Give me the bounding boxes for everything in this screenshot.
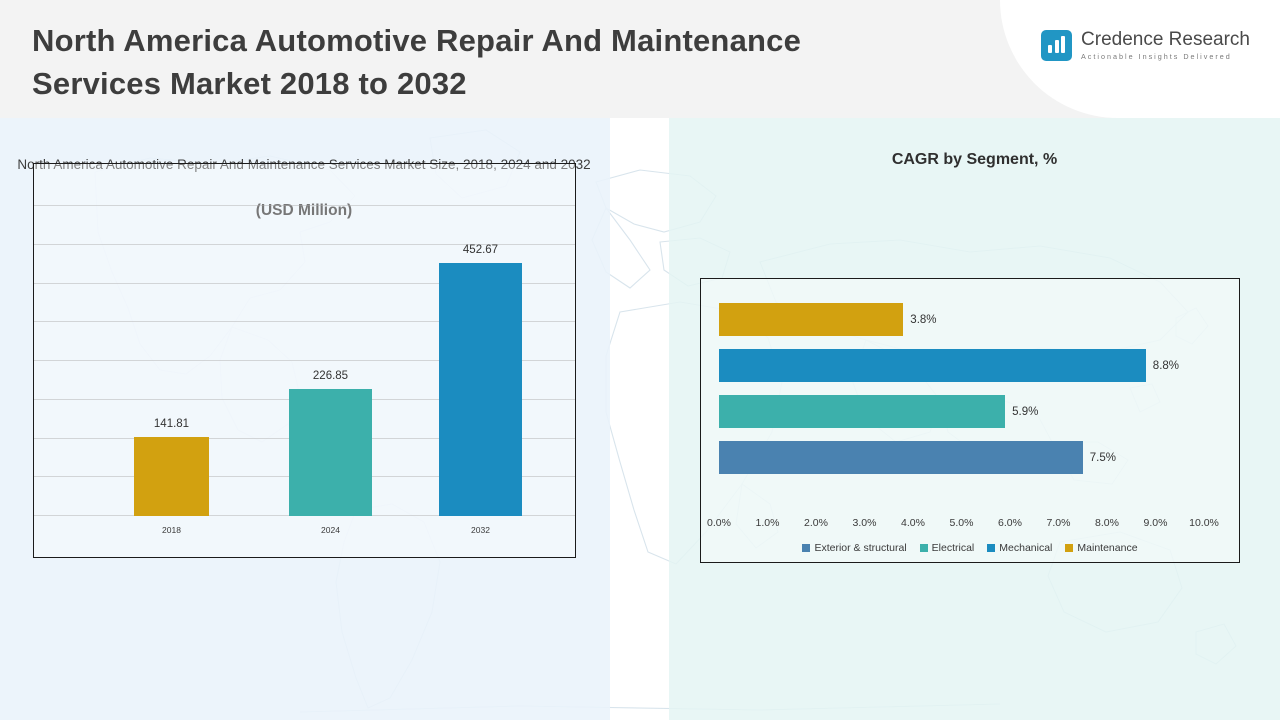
x-tick-label: 5.0% bbox=[950, 517, 974, 529]
brand-logo[interactable]: Credence Research Actionable Insights De… bbox=[1041, 30, 1250, 61]
hbar-value-label: 5.9% bbox=[1012, 406, 1038, 418]
legend-item[interactable]: Maintenance bbox=[1065, 542, 1137, 554]
market-size-bar-chart: 141.812018226.852024452.672032 bbox=[33, 163, 576, 558]
hbar: 7.5% bbox=[719, 441, 1083, 474]
bar-category-label: 2032 bbox=[471, 525, 490, 535]
hbar-value-label: 7.5% bbox=[1090, 452, 1116, 464]
bar-value-label: 226.85 bbox=[313, 370, 348, 382]
legend-swatch bbox=[1065, 544, 1073, 552]
x-tick-label: 9.0% bbox=[1144, 517, 1168, 529]
x-tick-label: 4.0% bbox=[901, 517, 925, 529]
x-tick-label: 1.0% bbox=[756, 517, 780, 529]
page-header: North America Automotive Repair And Main… bbox=[0, 0, 1280, 118]
legend-label: Exterior & structural bbox=[814, 542, 906, 554]
bar bbox=[134, 437, 209, 516]
page-title: North America Automotive Repair And Main… bbox=[32, 20, 932, 106]
legend-swatch bbox=[802, 544, 810, 552]
logo-tagline: Actionable Insights Delivered bbox=[1081, 52, 1250, 61]
bar bbox=[289, 389, 372, 516]
legend-label: Maintenance bbox=[1077, 542, 1137, 554]
bar-chart-logo-icon bbox=[1041, 30, 1072, 61]
legend-item[interactable]: Electrical bbox=[920, 542, 975, 554]
legend-label: Mechanical bbox=[999, 542, 1052, 554]
legend-item[interactable]: Mechanical bbox=[987, 542, 1052, 554]
legend-swatch bbox=[920, 544, 928, 552]
legend-label: Electrical bbox=[932, 542, 975, 554]
right-chart-title: CAGR by Segment, % bbox=[669, 151, 1280, 169]
x-tick-label: 7.0% bbox=[1047, 517, 1071, 529]
left-bar-series: 141.812018226.852024452.672032 bbox=[34, 164, 575, 557]
grid-line bbox=[34, 205, 575, 206]
hbar: 8.8% bbox=[719, 349, 1146, 382]
chart-legend: Exterior & structuralElectricalMechanica… bbox=[701, 542, 1239, 554]
bar-value-label: 141.81 bbox=[154, 418, 189, 430]
x-tick-label: 3.0% bbox=[853, 517, 877, 529]
hbar: 3.8% bbox=[719, 303, 903, 336]
bar-column: 141.812018 bbox=[134, 437, 209, 516]
hbar-value-label: 8.8% bbox=[1153, 360, 1179, 372]
bar-column: 226.852024 bbox=[289, 389, 372, 516]
legend-item[interactable]: Exterior & structural bbox=[802, 542, 906, 554]
hbar: 5.9% bbox=[719, 395, 1005, 428]
x-tick-label: 8.0% bbox=[1095, 517, 1119, 529]
x-tick-label: 10.0% bbox=[1189, 517, 1219, 529]
legend-swatch bbox=[987, 544, 995, 552]
cagr-bar-chart: 3.8%8.8%5.9%7.5% 0.0%1.0%2.0%3.0%4.0%5.0… bbox=[700, 278, 1240, 563]
logo-name: Credence Research bbox=[1081, 30, 1250, 50]
bar-column: 452.672032 bbox=[439, 263, 522, 516]
bar bbox=[439, 263, 522, 516]
hbar-value-label: 3.8% bbox=[910, 314, 936, 326]
x-tick-label: 2.0% bbox=[804, 517, 828, 529]
x-tick-label: 0.0% bbox=[707, 517, 731, 529]
bar-category-label: 2024 bbox=[321, 525, 340, 535]
bar-value-label: 452.67 bbox=[463, 244, 498, 256]
bar-category-label: 2018 bbox=[162, 525, 181, 535]
x-tick-label: 6.0% bbox=[998, 517, 1022, 529]
